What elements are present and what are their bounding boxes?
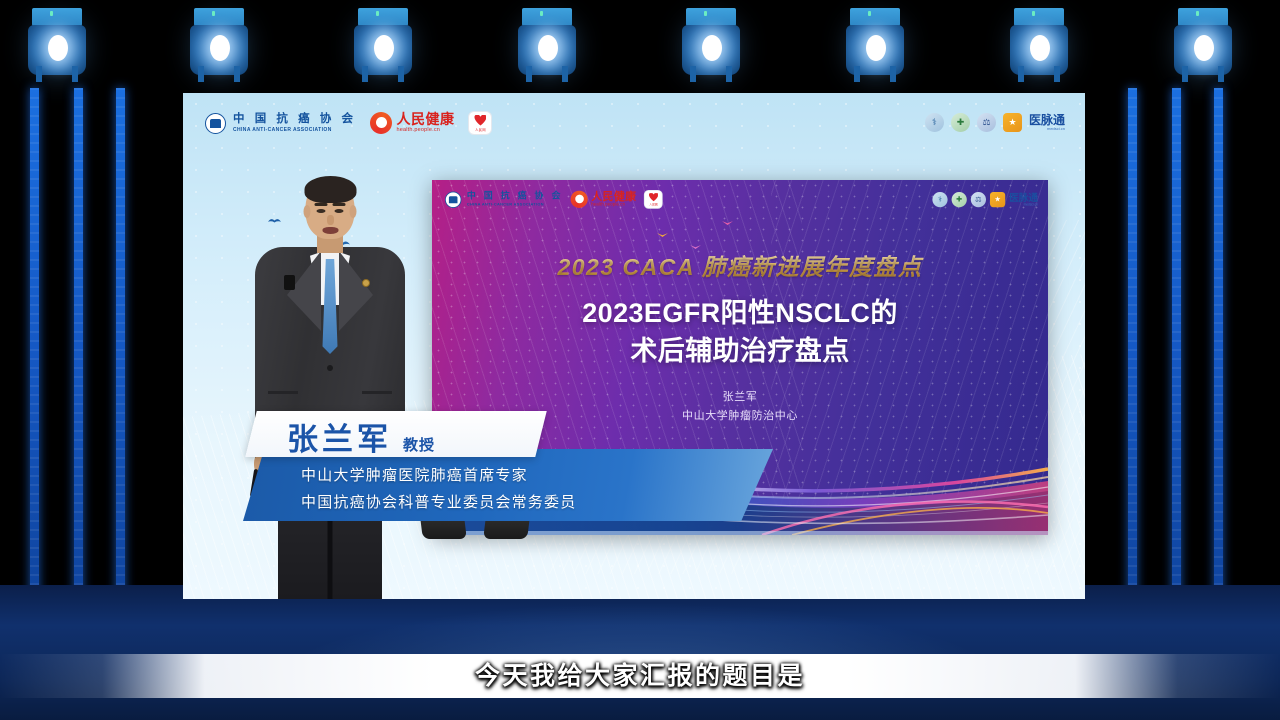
led-pillar-left-1 <box>30 88 39 668</box>
slide-partner-icon-row: ⚕ ✚ ⚖ ★ 医脉通 medsci.cn <box>932 192 1038 207</box>
frame-logo-bar: 中 国 抗 癌 协 会 CHINA ANTI-CANCER ASSOCIATIO… <box>205 111 492 135</box>
stage-light-icon <box>188 8 250 88</box>
slide-kicker: 2023 CACA 肺癌新进展年度盘点 <box>432 248 1048 282</box>
caca-logo: 中 国 抗 癌 协 会 CHINA ANTI-CANCER ASSOCIATIO… <box>205 113 356 134</box>
led-pillar-right-2 <box>1172 88 1181 668</box>
slide-bird-accent-icon <box>722 212 733 218</box>
presenter-name: 张兰军 <box>287 414 392 459</box>
medsci-en: medsci.cn <box>1029 127 1065 131</box>
slide-gold-medal-icon: ★ <box>990 192 1005 207</box>
slide-logo-bar: 中 国 抗 癌 协 会 CHINA ANTI-CANCER ASSOCIATIO… <box>445 190 663 209</box>
slide-health-shield-icon: ✚ <box>952 192 967 207</box>
slide-caca-name-cn: 中 国 抗 癌 协 会 <box>467 192 563 201</box>
led-pillar-right-1 <box>1128 88 1137 668</box>
stage-light-icon <box>352 8 414 88</box>
slide-people-health-en: health.people.cn <box>591 203 636 207</box>
slide-heart-app-icon: 人民网 <box>644 190 663 209</box>
caca-seal-icon <box>205 113 226 134</box>
slide-people-health-cn: 人民健康 <box>591 191 636 202</box>
people-health-logo: 人民健康 health.people.cn <box>370 112 454 134</box>
stage-light-icon <box>516 8 578 88</box>
heart-app-icon: 人民网 <box>468 111 492 135</box>
stage-light-icon <box>844 8 906 88</box>
presenter-figure <box>246 179 414 599</box>
slide-speaker-name: 张兰军 <box>432 388 1048 407</box>
slide-heart-app-label: 人民网 <box>649 202 657 206</box>
people-health-swirl-icon <box>370 112 392 134</box>
medsci-logo: 医脉通 medsci.cn <box>1029 114 1065 131</box>
slide-hospital-badge-icon: ⚕ <box>932 192 947 207</box>
lower-third-name-group: 张兰军 教授 <box>287 414 435 459</box>
credential-line-1: 中山大学肿瘤医院肺癌首席专家 <box>301 463 576 490</box>
presenter-rank: 教授 <box>403 434 435 455</box>
hospital-badge-icon: ⚕ <box>925 113 944 132</box>
slide-people-health-logo: 人民健康 health.people.cn <box>571 191 637 208</box>
stage-light-icon <box>1008 8 1070 88</box>
slide-title-line1: 2023EGFR阳性NSCLC的 <box>432 294 1048 332</box>
slide-bird-accent-icon <box>690 236 701 242</box>
stage-light-icon <box>1172 8 1234 88</box>
led-pillar-right-3 <box>1214 88 1223 668</box>
lapel-microphone-icon <box>284 275 295 290</box>
slide-title: 2023EGFR阳性NSCLC的 术后辅助治疗盘点 <box>432 294 1048 371</box>
led-pillar-left-3 <box>116 88 125 668</box>
led-pillar-left-2 <box>74 88 83 668</box>
slide-scales-badge-icon: ⚖ <box>971 192 986 207</box>
presenter-head <box>306 179 355 239</box>
caca-name-cn: 中 国 抗 癌 协 会 <box>233 114 356 126</box>
slide-medsci-logo: 医脉通 medsci.cn <box>1009 193 1038 207</box>
health-shield-icon: ✚ <box>951 113 970 132</box>
frame-partner-icon-row: ⚕ ✚ ⚖ ★ 医脉通 medsci.cn <box>925 113 1065 132</box>
slide-bird-accent-icon <box>657 224 668 230</box>
caca-name-en: CHINA ANTI-CANCER ASSOCIATION <box>233 128 356 133</box>
credential-line-2: 中国抗癌协会科普专业委员会常务委员 <box>301 490 576 517</box>
slide-caca-seal-icon <box>445 191 461 207</box>
people-health-cn: 人民健康 <box>396 112 454 126</box>
slide-people-health-swirl-icon <box>571 191 588 208</box>
slide-caca-logo: 中 国 抗 癌 协 会 CHINA ANTI-CANCER ASSOCIATIO… <box>445 191 563 207</box>
lower-third-credentials: 中山大学肿瘤医院肺癌首席专家 中国抗癌协会科普专业委员会常务委员 <box>301 463 576 516</box>
slide-title-line2: 术后辅助治疗盘点 <box>432 332 1048 370</box>
subtitle-text: 今天我给大家汇报的题目是 <box>0 656 1280 692</box>
stage-light-icon <box>26 8 88 88</box>
people-health-en: health.people.cn <box>396 128 454 134</box>
lighting-truss <box>0 0 1280 95</box>
lapel-pin-icon <box>362 279 370 287</box>
broadcast-frame: 中 国 抗 癌 协 会 CHINA ANTI-CANCER ASSOCIATIO… <box>183 93 1085 599</box>
gold-medal-icon: ★ <box>1003 113 1022 132</box>
medsci-cn: 医脉通 <box>1029 114 1065 126</box>
heart-app-label: 人民网 <box>475 127 486 132</box>
slide-medsci-cn: 医脉通 <box>1009 193 1038 203</box>
scales-badge-icon: ⚖ <box>977 113 996 132</box>
lower-third-banner: 张兰军 教授 中山大学肿瘤医院肺癌首席专家 中国抗癌协会科普专业委员会常务委员 <box>243 411 773 521</box>
slide-medsci-en: medsci.cn <box>1009 203 1038 206</box>
stage-light-icon <box>680 8 742 88</box>
slide-caca-name-en: CHINA ANTI-CANCER ASSOCIATION <box>467 203 563 207</box>
